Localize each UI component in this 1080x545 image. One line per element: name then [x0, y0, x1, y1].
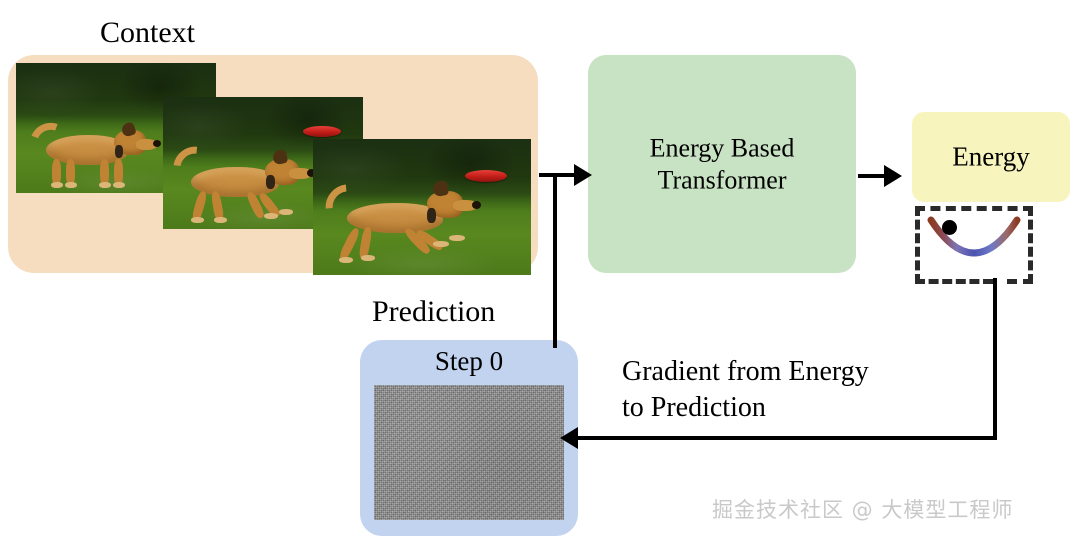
noise-prediction-image: [374, 385, 564, 520]
watermark: 掘金技术社区 @ 大模型工程师: [712, 500, 1013, 521]
connector-energy-down: [993, 278, 997, 440]
gradient-annotation: Gradient from Energy to Prediction: [622, 354, 869, 426]
energy-based-transformer-box[interactable]: Energy Based Transformer: [588, 55, 856, 273]
energy-ball-marker: [942, 220, 957, 235]
gradient-annotation-line1: Gradient from Energy: [622, 356, 869, 387]
energy-landscape-plot: [915, 206, 1033, 284]
energy-label: Energy: [912, 142, 1070, 173]
energy-curve-icon: [915, 206, 1033, 284]
prediction-title: Prediction: [372, 297, 495, 327]
dog-figure-3: [321, 179, 511, 269]
gradient-annotation-line2: to Prediction: [622, 392, 766, 423]
energy-box[interactable]: Energy: [912, 112, 1070, 202]
diagram-canvas: Context: [0, 0, 1080, 545]
transformer-label-line2: Transformer: [657, 165, 786, 194]
connector-prediction-to-transformer: [553, 173, 557, 348]
dog-figure-1: [26, 115, 166, 190]
dog-figure-2: [169, 145, 329, 227]
frisbee-icon: [303, 126, 341, 137]
transformer-label-line1: Energy Based: [650, 133, 795, 162]
transformer-label-wrap: Energy Based Transformer: [588, 132, 856, 195]
arrowhead-into-prediction: [560, 427, 578, 449]
prediction-box[interactable]: Step 0: [360, 340, 578, 536]
context-title: Context: [100, 18, 195, 48]
connector-energy-to-prediction: [578, 436, 995, 440]
context-frame-3: [313, 139, 531, 275]
arrowhead-into-transformer: [574, 164, 592, 186]
step-label: Step 0: [360, 346, 578, 377]
context-panel: [8, 55, 538, 273]
arrowhead-into-energy: [884, 165, 902, 187]
